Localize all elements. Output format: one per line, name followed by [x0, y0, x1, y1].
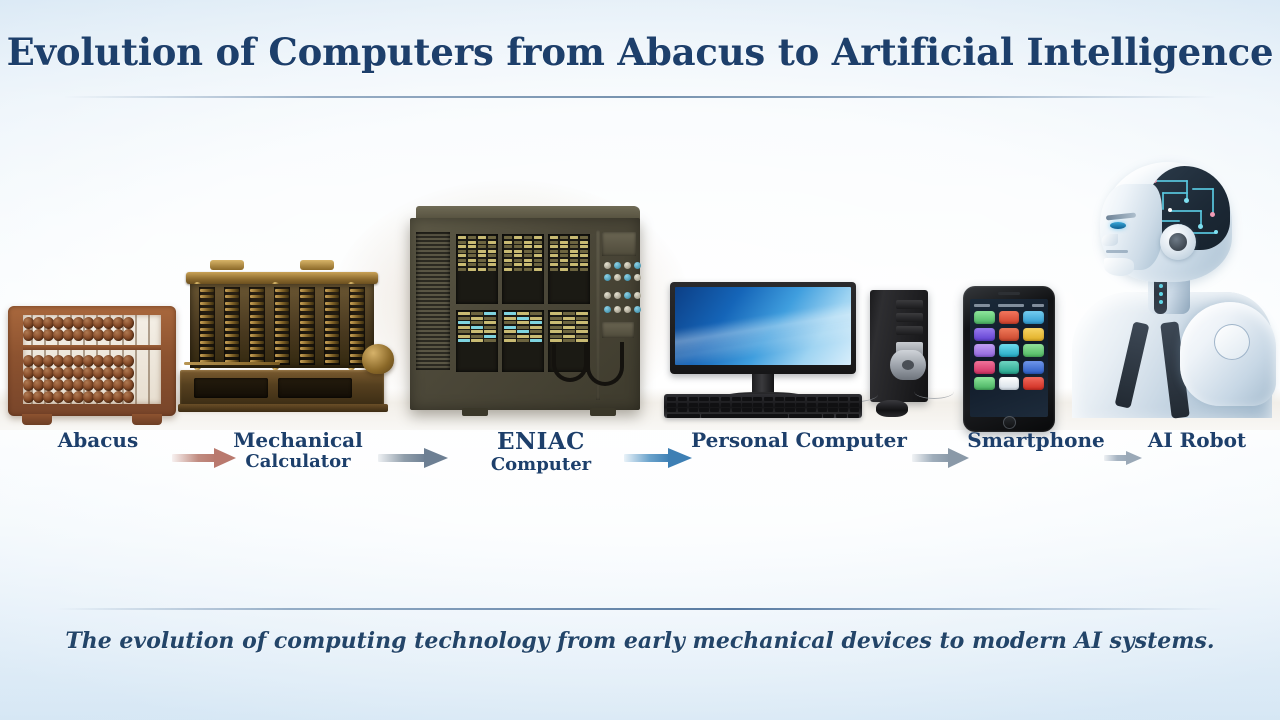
pc-cable [914, 384, 954, 399]
abacus-bead-row [23, 317, 161, 329]
robot-eye [1110, 222, 1126, 229]
calculator-panel [278, 378, 352, 398]
pc-monitor-neck [752, 374, 774, 394]
phone-earpiece [998, 292, 1020, 295]
timeline-labels-row: Abacus Mechanical Calculator ENIAC Compu… [0, 430, 1280, 510]
pc-front-accent [890, 350, 926, 380]
abacus-bead-row [23, 355, 161, 367]
phone-app-icon[interactable] [1023, 361, 1044, 374]
phone-app-icon[interactable] [999, 328, 1020, 341]
phone-app-icon[interactable] [999, 361, 1020, 374]
eniac-switch-rack [502, 310, 544, 372]
eniac-foot [590, 408, 616, 416]
eniac-dial-row [604, 274, 641, 281]
ai-robot-illustration [1062, 146, 1280, 418]
page-title: Evolution of Computers from Abacus to Ar… [0, 30, 1280, 74]
abacus-bead-row [23, 391, 161, 403]
arrow-smartphone-to-ai-robot [1104, 451, 1144, 465]
pc-power-button[interactable] [902, 360, 914, 370]
pc-screen-wallpaper [675, 287, 851, 365]
arrow-abacus-to-mechanical [172, 448, 236, 468]
calculator-panel [194, 378, 268, 398]
eniac-cable [586, 342, 624, 386]
phone-app-icon[interactable] [974, 361, 995, 374]
abacus-inner-panel [23, 315, 161, 404]
stage-label-mechanical-calculator: Mechanical Calculator [228, 430, 368, 471]
abacus-foot [132, 414, 162, 425]
abacus-illustration [8, 306, 176, 416]
eniac-tube-rack [548, 234, 590, 304]
pc-keyboard[interactable] [664, 394, 862, 418]
eniac-dial-row [604, 306, 641, 313]
calculator-plinth [178, 404, 388, 412]
eniac-switch-rack [456, 310, 498, 372]
phone-status-bar [974, 304, 1044, 308]
personal-computer-illustration [664, 282, 956, 418]
phone-app-icon[interactable] [1023, 377, 1044, 390]
abacus-foot [22, 414, 52, 425]
robot-shoulder-ring [1214, 324, 1250, 360]
abacus-bead-row [23, 367, 161, 379]
arrow-personal-computer-to-smartphone [912, 448, 970, 468]
robot-nose [1102, 234, 1118, 246]
calculator-knob [210, 260, 244, 270]
calculator-gear-stack [190, 284, 374, 368]
calculator-knob [300, 260, 334, 270]
eniac-meter-panel [602, 232, 636, 256]
eniac-tube-rack [502, 234, 544, 304]
infographic-canvas: Evolution of Computers from Abacus to Ar… [0, 0, 1280, 720]
phone-app-icon[interactable] [974, 311, 995, 324]
timeline-artwork-strip [0, 110, 1280, 430]
phone-app-icon[interactable] [974, 328, 995, 341]
robot-head [1102, 162, 1232, 282]
stage-label-ai-robot: AI Robot [1134, 430, 1260, 452]
calculator-hand-rail [184, 362, 280, 365]
smartphone-illustration [963, 286, 1055, 432]
eniac-foot [462, 408, 488, 416]
robot-chin [1104, 258, 1134, 276]
phone-app-icon[interactable] [1023, 328, 1044, 341]
phone-screen[interactable] [970, 299, 1048, 417]
phone-app-icon[interactable] [999, 311, 1020, 324]
phone-app-icon[interactable] [1023, 344, 1044, 357]
arrow-eniac-to-personal-computer [624, 448, 692, 468]
phone-app-icon[interactable] [1023, 311, 1044, 324]
pc-monitor [670, 282, 856, 374]
robot-mouth [1106, 250, 1128, 253]
eniac-computer-illustration [410, 206, 640, 418]
title-divider [64, 96, 1216, 98]
arrow-mechanical-to-eniac [378, 448, 450, 468]
robot-ear-module [1160, 224, 1196, 260]
stage-label-eniac-computer: ENIAC Computer [468, 430, 614, 474]
phone-app-icon[interactable] [999, 344, 1020, 357]
phone-app-icon[interactable] [999, 377, 1020, 390]
abacus-bead-row [23, 379, 161, 391]
eniac-tube-rack [456, 234, 498, 304]
eniac-vent-grille [416, 232, 450, 370]
stage-label-smartphone: Smartphone [966, 430, 1106, 452]
pc-drive-bay [896, 326, 923, 335]
eniac-dial-row [604, 292, 641, 299]
robot-brow [1106, 212, 1136, 220]
calculator-crank-wheel [362, 344, 394, 374]
pc-drive-bay [896, 300, 923, 309]
footer-divider [56, 608, 1224, 610]
mechanical-calculator-illustration [180, 258, 392, 418]
abacus-bead-row [23, 329, 161, 341]
eniac-readout [602, 322, 634, 338]
phone-app-icon[interactable] [974, 344, 995, 357]
phone-app-icon[interactable] [974, 377, 995, 390]
pc-drive-bay [896, 313, 923, 322]
eniac-dial-row [604, 262, 641, 269]
phone-app-grid [974, 311, 1044, 390]
pc-mouse[interactable] [876, 400, 908, 417]
calculator-base [180, 370, 384, 406]
footer-caption: The evolution of computing technology fr… [0, 628, 1280, 654]
stage-label-abacus: Abacus [20, 430, 176, 452]
eniac-cable [552, 344, 588, 382]
stage-label-personal-computer: Personal Computer [690, 430, 908, 452]
robot-face [1100, 184, 1162, 270]
abacus-reckoning-bar [23, 345, 161, 350]
eniac-chassis [410, 218, 640, 410]
